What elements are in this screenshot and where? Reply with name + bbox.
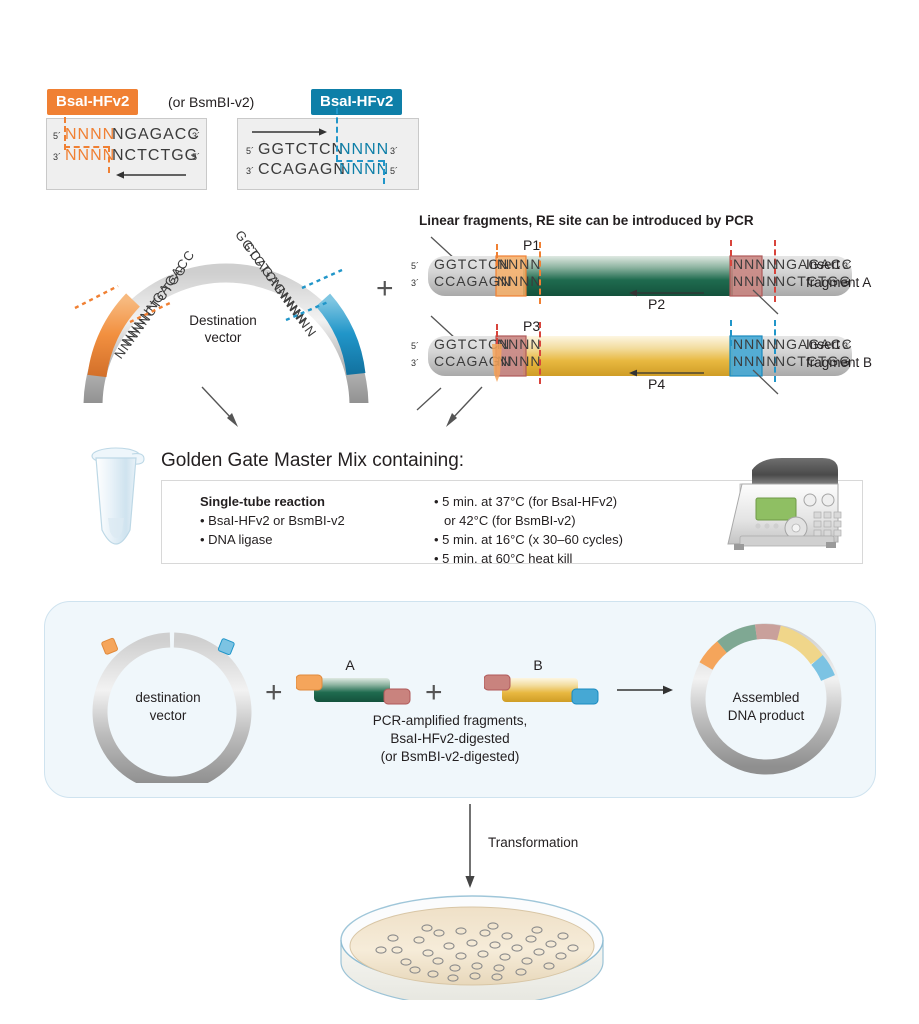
fragment-b-right-top-overhang: NNNN [733, 336, 777, 352]
destination-vector-label-line2: vector [178, 330, 268, 345]
assembly-fragment-b-label: B [518, 657, 558, 673]
cut-dash-right-lower [383, 160, 385, 184]
cut-dash-left-lower [108, 146, 110, 173]
left-box-5prime-top: 5´ [53, 131, 61, 141]
fragment-b-primer-rev-arrow [628, 367, 708, 379]
assembly-caption-line3: (or BsmBI-v2-digested) [300, 749, 600, 764]
left-box-5prime-bottom: 5´ [192, 152, 200, 162]
fragment-b-dash-left-lower [539, 322, 541, 384]
fragment-b-right-pointer [750, 366, 800, 396]
enzyme-chip-bsai-left: BsaI-HFv2 [47, 89, 138, 115]
master-mix-right-column: • 5 min. at 37°C (for BsaI-HFv2) or 42°C… [434, 492, 724, 568]
transformation-arrow [462, 804, 478, 890]
fragment-a-primer-rev-label: P2 [648, 296, 665, 312]
fragment-a-left-5prime: 5´ [411, 261, 419, 271]
cut-dash-right-horizontal [336, 160, 384, 162]
master-mix-left-item-1: • DNA ligase [200, 530, 450, 549]
master-mix-right-item-0: • 5 min. at 37°C (for BsaI-HFv2) [434, 492, 724, 511]
left-box-bottom-site: NCTCTGG [112, 147, 198, 165]
assembly-plus-1: + [265, 676, 283, 710]
fragment-a-right-3prime: 3´ [843, 261, 851, 271]
assembled-product-label-line1: Assembled [711, 690, 821, 705]
cut-dash-left-upper [64, 108, 66, 150]
linear-fragments-heading: Linear fragments, RE site can be introdu… [419, 213, 754, 228]
fragment-b-name-line2: fragment B [806, 355, 872, 370]
single-tube-reaction-title: Single-tube reaction [200, 492, 450, 511]
assembly-vector-label-line2: vector [113, 708, 223, 723]
master-mix-heading: Golden Gate Master Mix containing: [161, 450, 464, 472]
assembly-fragment-b-icon [484, 674, 606, 710]
fragment-a-dash-left-lower [539, 242, 541, 304]
reaction-tube-icon [88, 444, 152, 566]
fragment-b-left-orange-marker [488, 344, 506, 384]
right-box-5prime-top: 5´ [246, 146, 254, 156]
fragment-a-left-bottom-overhang: NNNN [497, 273, 541, 289]
assembly-destination-vector-icon [78, 628, 258, 783]
assembly-caption-line2: BsaI-HFv2-digested [300, 731, 600, 746]
right-box-bottom-overhang: NNNN [339, 161, 389, 179]
fragment-b-dash-left-upper [496, 324, 498, 344]
right-box-3prime-bottom: 3´ [246, 166, 254, 176]
transformation-label: Transformation [488, 835, 578, 850]
left-box-top-site: NGAGACC [112, 126, 200, 144]
right-box-bottom-site: CCAGAGN [258, 161, 346, 179]
left-box-3prime-bottom: 3´ [53, 152, 61, 162]
fragment-a-primer-rev-arrow [628, 287, 708, 299]
master-mix-right-item-2: • 5 min. at 16°C (x 30–60 cycles) [434, 530, 724, 549]
fragment-a-dash-left-upper [496, 244, 498, 266]
cut-dash-right-upper [336, 108, 338, 161]
petri-dish-icon [335, 890, 610, 1000]
fragment-b-left-3prime: 3´ [411, 358, 419, 368]
fragment-b-name-line1: Insert [806, 337, 840, 352]
left-box-direction-arrow [116, 168, 188, 182]
fragment-a-dash-right-upper [730, 240, 732, 266]
fragment-a-name-line1: Insert [806, 257, 840, 272]
fragment-b-dash-right-upper [730, 320, 732, 346]
left-box-3prime-top: 3´ [192, 131, 200, 141]
assembly-fragment-a-label: A [330, 657, 370, 673]
master-mix-right-item-3: • 5 min. at 60°C heat kill [434, 549, 724, 568]
arrow-fragments-to-mix [430, 385, 490, 433]
fragment-a-left-3prime: 3´ [411, 278, 419, 288]
fragment-a-left-top-overhang: NNNN [497, 256, 541, 272]
assembly-plus-2: + [425, 676, 443, 710]
left-box-top-overhang: NNNN [65, 126, 115, 144]
arrow-vector-to-mix [200, 385, 260, 433]
enzyme-chip-bsai-right: BsaI-HFv2 [311, 89, 402, 115]
assembly-fragment-a-icon [296, 674, 418, 710]
master-mix-left-item-0: • BsaI-HFv2 or BsmBI-v2 [200, 511, 450, 530]
cut-dash-left-horizontal [64, 146, 109, 148]
assembly-caption-line1: PCR-amplified fragments, [300, 713, 600, 728]
fragment-b-right-3prime: 3´ [843, 341, 851, 351]
fragment-a-name-line2: fragment A [806, 275, 871, 290]
master-mix-right-item-1: or 42°C (for BsmBI-v2) [434, 511, 724, 530]
assembly-vector-label-line1: destination [113, 690, 223, 705]
alternate-enzyme-note: (or BsmBI-v2) [168, 94, 254, 110]
right-box-direction-arrow [250, 126, 328, 138]
fragment-a-primer-fwd-label: P1 [523, 237, 540, 253]
fragment-a-right-top-overhang: NNNN [733, 256, 777, 272]
right-box-top-site: GGTCTCN [258, 141, 344, 159]
right-box-3prime-top: 3´ [390, 146, 398, 156]
fragment-b-left-5prime: 5´ [411, 341, 419, 351]
assembled-product-label-line2: DNA product [711, 708, 821, 723]
assembly-result-arrow [615, 682, 677, 698]
right-box-5prime-bottom: 5´ [390, 166, 398, 176]
fragment-a-right-pointer [750, 286, 800, 316]
fragment-b-primer-rev-label: P4 [648, 376, 665, 392]
destination-vector-label-line1: Destination [178, 313, 268, 328]
right-box-top-overhang: NNNN [339, 141, 389, 159]
plus-sign-vector-fragments: + [376, 272, 394, 306]
thermocycler-icon [718, 452, 864, 562]
master-mix-left-column: Single-tube reaction • BsaI-HFv2 or BsmB… [200, 492, 450, 549]
